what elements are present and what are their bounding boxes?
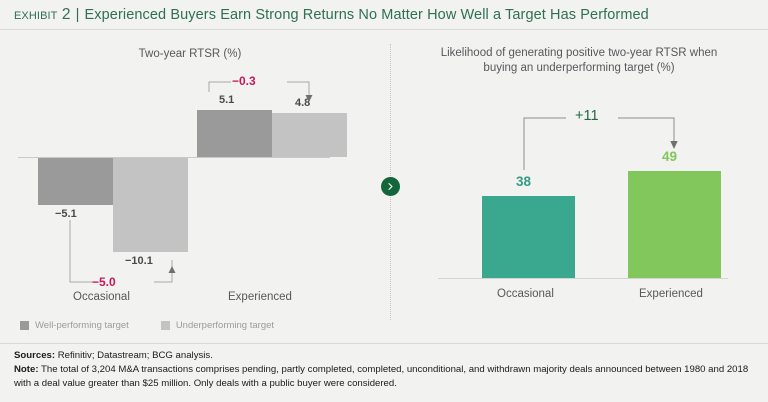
left-chart-plot: −5.1 −10.1 5.1 4.8 −5.0 −0.3 Occasional … <box>0 32 380 342</box>
value-label-occasional-well: −5.1 <box>55 208 77 220</box>
footnotes: Sources: Refinitiv; Datastream; BCG anal… <box>14 349 756 391</box>
category-label-experienced-left: Experienced <box>228 291 292 303</box>
left-chart-legend: Well-performing target Underperforming t… <box>20 320 274 331</box>
footnote-sources: Sources: Refinitiv; Datastream; BCG anal… <box>14 349 756 363</box>
category-label-occasional-left: Occasional <box>73 291 130 303</box>
delta-label-occasional: −5.0 <box>92 275 116 289</box>
exhibit-container: Exhibit 2|Experienced Buyers Earn Strong… <box>0 0 768 402</box>
bar-experienced-underperforming[interactable] <box>272 113 347 157</box>
legend-swatch-icon-underperforming <box>161 321 170 330</box>
legend-item-underperforming[interactable]: Underperforming target <box>161 320 274 331</box>
delta-bracket-likelihood <box>522 112 682 182</box>
right-chart-panel: Likelihood of generating positive two-ye… <box>390 32 768 342</box>
bar-occasional-likelihood[interactable] <box>482 196 575 278</box>
footnote-sources-text: Refinitiv; Datastream; BCG analysis. <box>55 350 213 361</box>
footnote-sources-label: Sources: <box>14 350 55 361</box>
bar-experienced-well-performing[interactable] <box>197 110 272 157</box>
left-chart-panel: Two-year RTSR (%) −5.1 −10.1 5.1 4.8 <box>0 32 380 342</box>
footnote-note: Note: The total of 3,204 M&A transaction… <box>14 363 756 391</box>
legend-label-underperforming: Underperforming target <box>176 320 274 331</box>
page-title: Exhibit 2|Experienced Buyers Earn Strong… <box>14 6 649 24</box>
delta-label-experienced: −0.3 <box>232 74 256 88</box>
footnote-divider-rule <box>0 343 768 344</box>
footnote-note-label: Note: <box>14 364 39 375</box>
footnote-note-text: The total of 3,204 M&A transactions comp… <box>14 364 748 389</box>
exhibit-header: Exhibit 2|Experienced Buyers Earn Strong… <box>0 0 768 30</box>
delta-bracket-occasional <box>62 220 202 300</box>
legend-label-well-performing: Well-performing target <box>35 320 129 331</box>
title-main-text: Experienced Buyers Earn Strong Returns N… <box>85 7 649 23</box>
delta-label-likelihood: +11 <box>575 108 599 124</box>
exhibit-label: Exhibit 2 <box>14 6 71 23</box>
right-chart-baseline-axis <box>438 278 728 279</box>
bar-occasional-well-performing[interactable] <box>38 158 113 205</box>
bar-experienced-likelihood[interactable] <box>628 171 721 278</box>
category-label-experienced-right: Experienced <box>639 288 703 300</box>
legend-swatch-icon-well-performing <box>20 321 29 330</box>
right-chart-plot: 38 49 +11 Occasional Experienced <box>390 32 768 342</box>
category-label-occasional-right: Occasional <box>497 288 554 300</box>
header-divider-rule <box>0 29 768 30</box>
delta-bracket-experienced <box>205 76 335 112</box>
title-separator: | <box>76 7 80 23</box>
legend-item-well-performing[interactable]: Well-performing target <box>20 320 129 331</box>
